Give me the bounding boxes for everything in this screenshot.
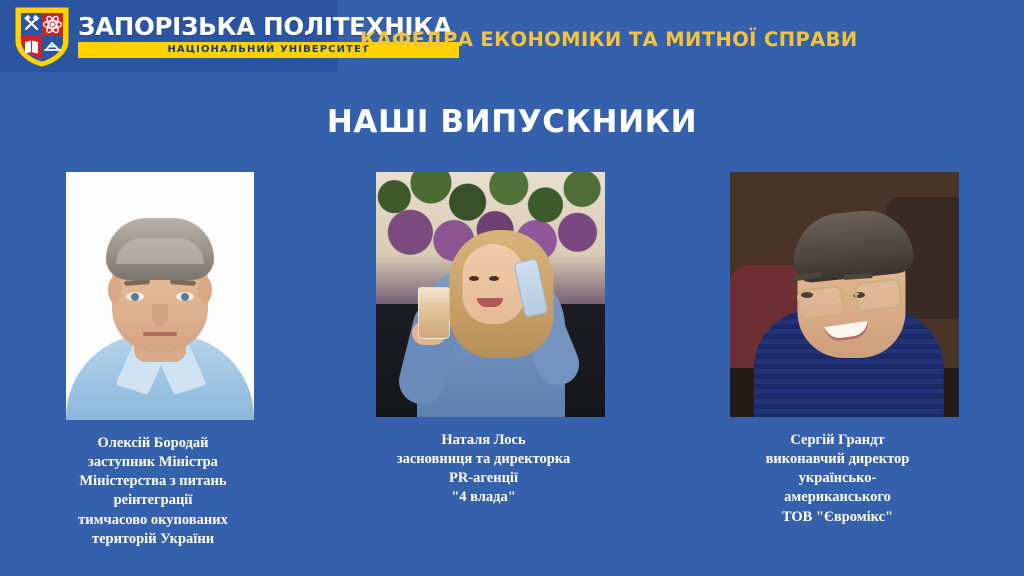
photo-eye-left (469, 276, 479, 281)
university-logo-banner: ЗАПОРІЗЬКА ПОЛІТЕХНІКА НАЦІОНАЛЬНИЙ УНІВ… (0, 0, 338, 72)
university-shield-icon (14, 5, 70, 67)
photo-lens-left (795, 285, 844, 320)
alumni-card: Олексій Бородай заступник Міністра Мініс… (52, 170, 254, 549)
alumni-caption: Наталя Лось засновниця та директорка PR-… (362, 431, 605, 508)
alumni-role-line: заступник Міністра (54, 453, 252, 472)
alumni-name: Наталя Лось (364, 431, 603, 450)
photo-eye-left (126, 292, 144, 301)
alumni-role-line: реінтеграції (54, 491, 252, 510)
alumni-name: Сергій Грандт (718, 431, 957, 450)
alumni-photo (66, 172, 254, 420)
photo-ear-right (198, 277, 212, 303)
alumni-name: Олексій Бородай (54, 434, 252, 453)
photo-eye-right (176, 292, 194, 301)
alumni-card: Наталя Лось засновниця та директорка PR-… (362, 170, 605, 508)
alumni-role-line: PR-агенції (364, 469, 603, 488)
photo-coffee-glass (418, 287, 450, 339)
alumni-role-line: тимчасово окупованих (54, 511, 252, 530)
alumni-role-line: "4 влада" (364, 488, 603, 507)
alumni-role-line: територій України (54, 530, 252, 549)
alumni-caption: Олексій Бородай заступник Міністра Мініс… (52, 434, 254, 549)
alumni-role-line: Міністерства з питань (54, 472, 252, 491)
alumni-card: Сергій Грандт виконавчий директор україн… (716, 170, 959, 527)
alumni-gallery: Олексій Бородай заступник Міністра Мініс… (0, 170, 1024, 570)
alumni-role-line: виконавчий директор (718, 450, 957, 469)
photo-nose (152, 304, 168, 326)
alumni-role-line: американського (718, 488, 957, 507)
photo-mouth (477, 298, 503, 307)
alumni-caption: Сергій Грандт виконавчий директор україн… (716, 431, 959, 527)
photo-ear-left (108, 277, 122, 303)
university-subtitle: НАЦІОНАЛЬНИЙ УНІВЕРСИТЕТ (167, 45, 369, 55)
presentation-slide: ЗАПОРІЗЬКА ПОЛІТЕХНІКА НАЦІОНАЛЬНИЙ УНІВ… (0, 0, 1024, 576)
page-title: НАШІ ВИПУСКНИКИ (0, 104, 1024, 140)
photo-eye-right (489, 276, 499, 281)
photo-face (462, 244, 524, 324)
photo-mouth (143, 332, 177, 336)
photo-lens-right (853, 278, 902, 313)
photo-hair (106, 218, 214, 280)
department-heading: КАФЕДРА ЕКОНОМІКИ ТА МИТНОЇ СПРАВИ (360, 28, 858, 51)
alumni-role-line: засновниця та директорка (364, 450, 603, 469)
alumni-photo (376, 172, 605, 417)
alumni-photo (730, 172, 959, 417)
alumni-role-line: українсько- (718, 469, 957, 488)
alumni-role-line: ТОВ "Євромікс" (718, 508, 957, 527)
